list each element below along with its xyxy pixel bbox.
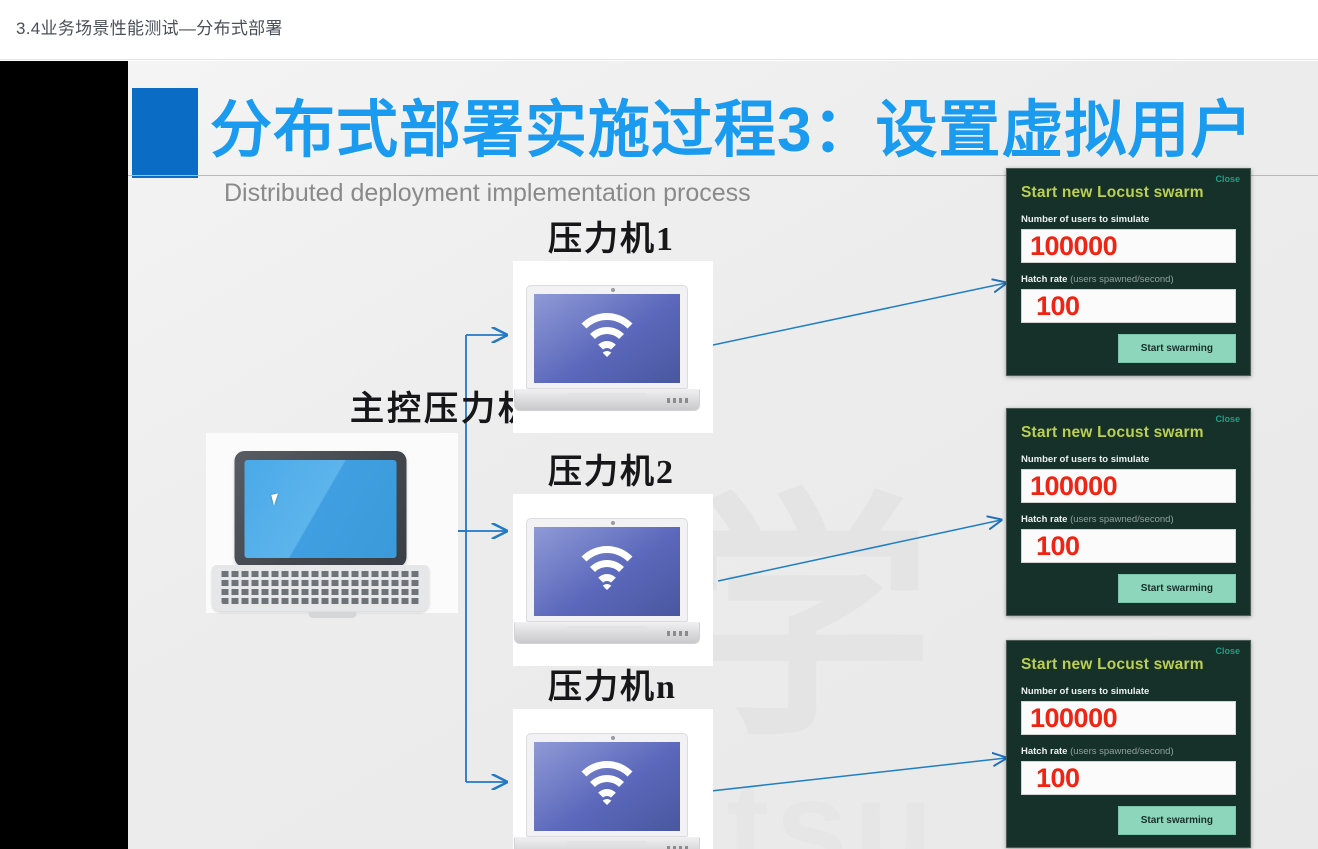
hatch-rate-input[interactable]: 100	[1021, 761, 1236, 795]
laptop-base	[212, 565, 430, 611]
panel-actions: Start swarming	[1021, 334, 1236, 363]
slide-viewer: 学 atsu 分布式部署实施过程3：设置虚拟用户 Distributed dep…	[0, 61, 1318, 849]
page-header: 3.4业务场景性能测试—分布式部署	[0, 0, 1318, 60]
panel-title: Start new Locust swarm	[1021, 184, 1236, 202]
worker-node-2	[513, 494, 713, 666]
webcam-icon	[611, 288, 615, 292]
hatch-field-label: Hatch rate (users spawned/second)	[1021, 746, 1236, 757]
panel-title: Start new Locust swarm	[1021, 656, 1236, 674]
laptop-lid	[526, 285, 688, 389]
panel-actions: Start swarming	[1021, 806, 1236, 835]
close-link[interactable]: Close	[1215, 174, 1240, 184]
laptop-screen	[534, 294, 680, 383]
laptop-lid	[526, 733, 688, 837]
locust-swarm-panel-3: Close Start new Locust swarm Number of u…	[1006, 640, 1251, 848]
title-accent-block	[132, 88, 198, 178]
cursor-arrow-icon	[271, 493, 280, 505]
laptop-screen	[245, 460, 397, 558]
close-link[interactable]: Close	[1215, 646, 1240, 656]
hatch-label-hint: (users spawned/second)	[1070, 514, 1174, 525]
laptop-lid	[526, 518, 688, 622]
worker-node-n	[513, 709, 713, 849]
laptop-lid	[235, 451, 407, 567]
users-input[interactable]: 100000	[1021, 469, 1236, 503]
worker-laptop-icon-1	[526, 285, 700, 411]
master-node	[206, 433, 458, 613]
hatch-label-text: Hatch rate	[1021, 274, 1067, 285]
wifi-icon	[567, 544, 647, 602]
users-field-label: Number of users to simulate	[1021, 214, 1236, 225]
users-input[interactable]: 100000	[1021, 701, 1236, 735]
close-link[interactable]: Close	[1215, 414, 1240, 424]
webcam-icon	[611, 521, 615, 525]
worker-node-1	[513, 261, 713, 433]
worker-label-2: 压力机2	[548, 444, 675, 493]
start-swarming-button[interactable]: Start swarming	[1118, 334, 1236, 363]
page-title: 3.4业务场景性能测试—分布式部署	[16, 14, 283, 39]
locust-swarm-panel-1: Close Start new Locust swarm Number of u…	[1006, 168, 1251, 376]
hatch-label-hint: (users spawned/second)	[1070, 274, 1174, 285]
webcam-icon	[611, 736, 615, 740]
laptop-base	[514, 622, 700, 644]
start-swarming-button[interactable]: Start swarming	[1118, 574, 1236, 603]
wifi-icon	[567, 759, 647, 817]
laptop-base	[514, 389, 700, 411]
worker-laptop-icon-n	[526, 733, 700, 849]
hatch-label-text: Hatch rate	[1021, 746, 1067, 757]
hatch-label-text: Hatch rate	[1021, 514, 1067, 525]
slide-title: 分布式部署实施过程3：设置虚拟用户	[210, 79, 1253, 169]
hatch-rate-input[interactable]: 100	[1021, 529, 1236, 563]
master-node-label: 主控压力机	[350, 381, 535, 430]
panel-actions: Start swarming	[1021, 574, 1236, 603]
worker-label-n: 压力机n	[548, 659, 677, 708]
laptop-screen	[534, 527, 680, 616]
worker-label-1: 压力机1	[548, 211, 675, 260]
keyboard-icon	[222, 570, 420, 604]
laptop-screen	[534, 742, 680, 831]
panel-title: Start new Locust swarm	[1021, 424, 1236, 442]
laptop-hinge	[308, 612, 356, 618]
hatch-field-label: Hatch rate (users spawned/second)	[1021, 274, 1236, 285]
slide-canvas: 学 atsu 分布式部署实施过程3：设置虚拟用户 Distributed dep…	[128, 61, 1318, 849]
users-input[interactable]: 100000	[1021, 229, 1236, 263]
master-laptop-icon	[235, 451, 430, 611]
hatch-field-label: Hatch rate (users spawned/second)	[1021, 514, 1236, 525]
worker-laptop-icon-2	[526, 518, 700, 644]
locust-swarm-panel-2: Close Start new Locust swarm Number of u…	[1006, 408, 1251, 616]
users-field-label: Number of users to simulate	[1021, 454, 1236, 465]
laptop-base	[514, 837, 700, 849]
start-swarming-button[interactable]: Start swarming	[1118, 806, 1236, 835]
hatch-rate-input[interactable]: 100	[1021, 289, 1236, 323]
hatch-label-hint: (users spawned/second)	[1070, 746, 1174, 757]
slide-subtitle: Distributed deployment implementation pr…	[224, 179, 751, 208]
wifi-icon	[567, 311, 647, 369]
users-field-label: Number of users to simulate	[1021, 686, 1236, 697]
